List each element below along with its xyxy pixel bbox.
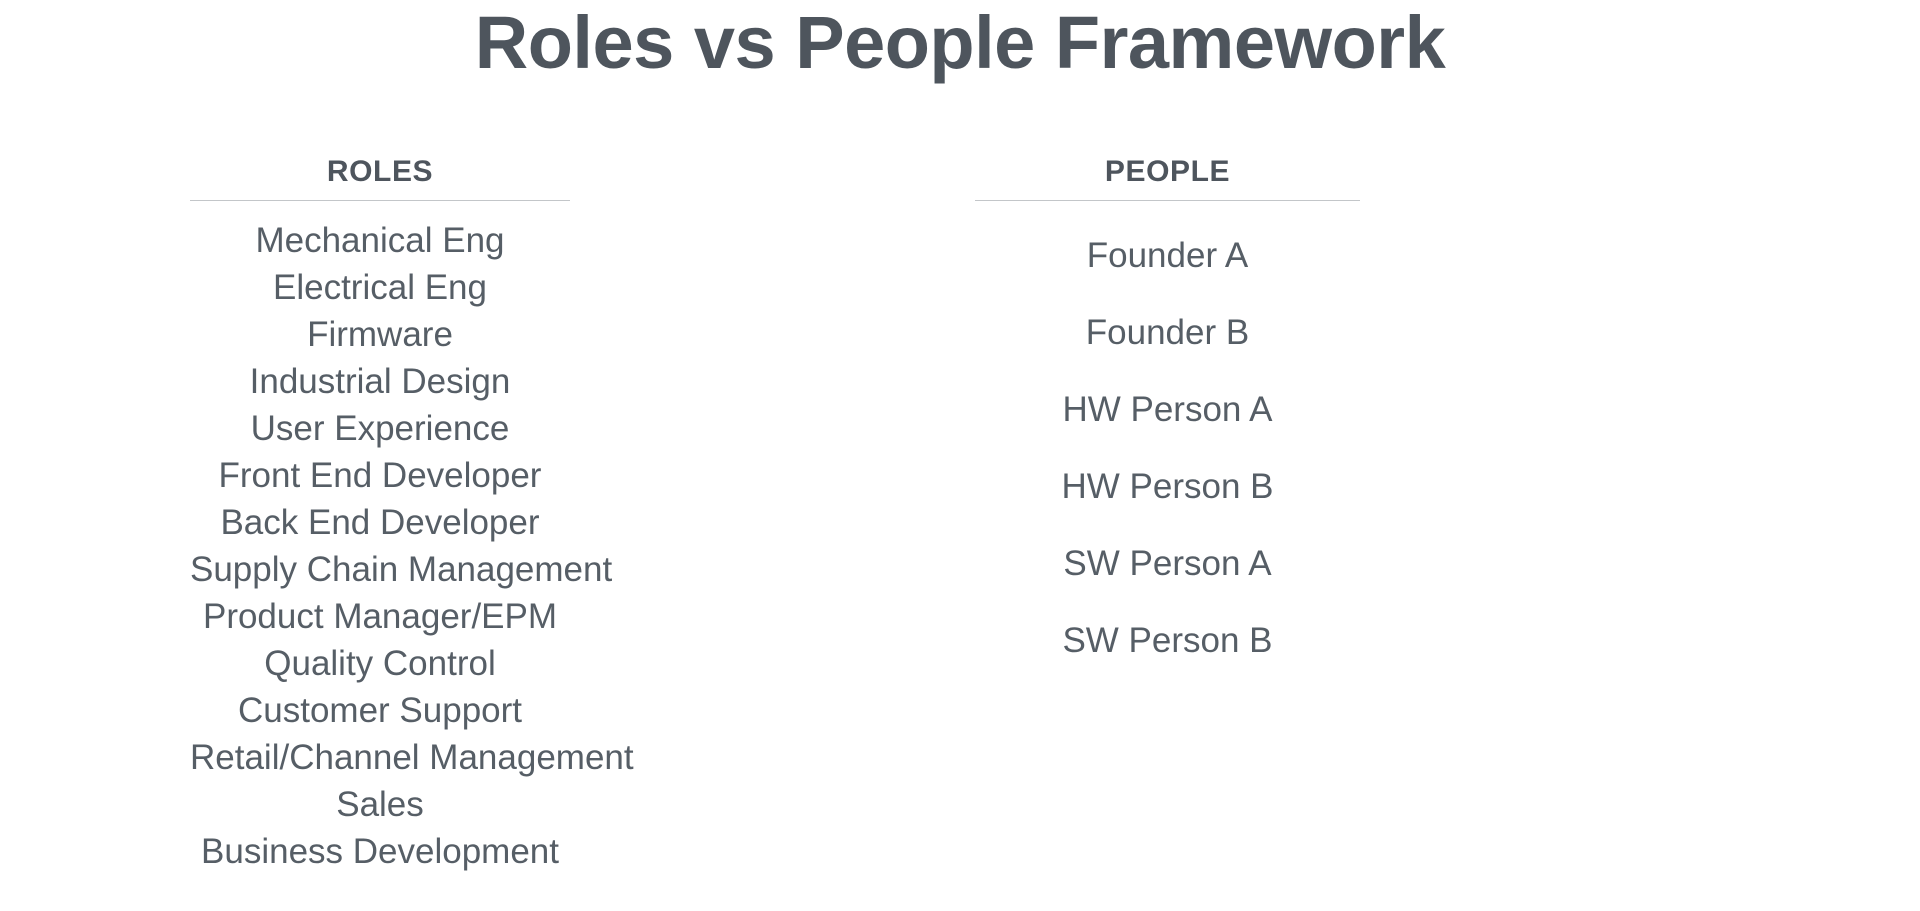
list-item-role: Back End Developer xyxy=(190,499,570,546)
page-title: Roles vs People Framework xyxy=(0,2,1920,85)
list-item-person: SW Person B xyxy=(975,602,1360,679)
slide-root: Roles vs People Framework ROLES Mechanic… xyxy=(0,0,1920,911)
column-people: PEOPLE Founder AFounder BHW Person AHW P… xyxy=(975,155,1360,679)
column-header-people: PEOPLE xyxy=(975,155,1360,200)
list-item-role: Business Development xyxy=(190,828,570,875)
list-item-person: Founder B xyxy=(975,294,1360,371)
list-item-person: SW Person A xyxy=(975,525,1360,602)
list-item-person: HW Person B xyxy=(975,448,1360,525)
list-item-person: Founder A xyxy=(975,217,1360,294)
list-item-role: Industrial Design xyxy=(190,358,570,405)
list-item-role: Firmware xyxy=(190,311,570,358)
list-item-role: Front End Developer xyxy=(190,452,570,499)
list-item-role: Sales xyxy=(190,781,570,828)
list-item-role: Supply Chain Management xyxy=(190,546,570,593)
list-item-role: User Experience xyxy=(190,405,570,452)
divider-roles xyxy=(190,200,570,201)
divider-people xyxy=(975,200,1360,201)
people-list: Founder AFounder BHW Person AHW Person B… xyxy=(975,217,1360,679)
list-item-person: HW Person A xyxy=(975,371,1360,448)
list-item-role: Retail/Channel Management xyxy=(190,734,570,781)
column-header-roles: ROLES xyxy=(190,155,570,200)
column-roles: ROLES Mechanical EngElectrical EngFirmwa… xyxy=(190,155,570,875)
list-item-role: Customer Support xyxy=(190,687,570,734)
list-item-role: Electrical Eng xyxy=(190,264,570,311)
columns-container: ROLES Mechanical EngElectrical EngFirmwa… xyxy=(0,155,1920,911)
roles-list: Mechanical EngElectrical EngFirmwareIndu… xyxy=(190,217,570,875)
list-item-role: Quality Control xyxy=(190,640,570,687)
list-item-role: Product Manager/EPM xyxy=(190,593,570,640)
list-item-role: Mechanical Eng xyxy=(190,217,570,264)
